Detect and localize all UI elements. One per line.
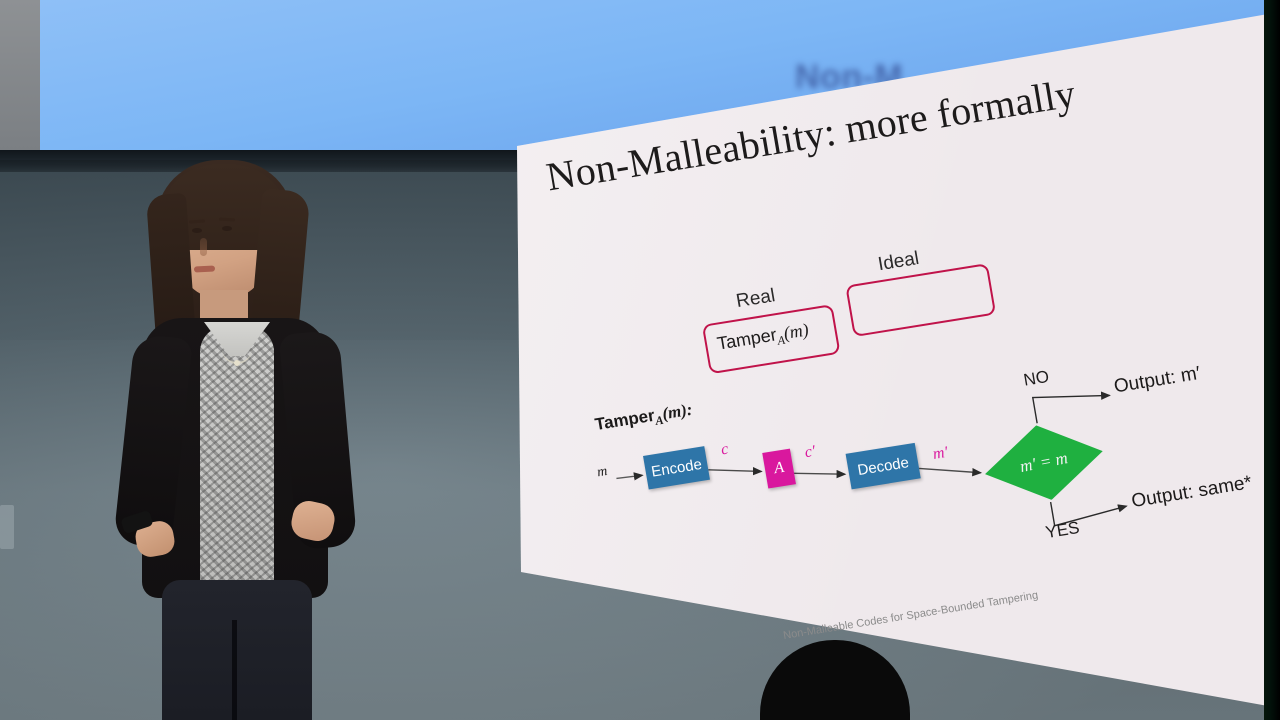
slide-content: Non-Malleability: more formally Real Ide… (517, 26, 1280, 698)
procedure-name: Tamper (593, 406, 656, 434)
column-label-ideal: Ideal (876, 248, 920, 276)
procedure-label: TamperA(m): (593, 400, 694, 439)
flow-edge-label-c-prime: c′ (803, 443, 817, 462)
presenter (96, 150, 376, 720)
presenter-trousers (162, 580, 312, 720)
presenter-leg-separation (232, 620, 237, 720)
presenter-mouth (194, 265, 215, 272)
flow-node-adversary: A (762, 449, 796, 489)
presenter-nose (200, 238, 207, 256)
presenter-necklace-pendant (234, 360, 240, 366)
real-box-arg: (m) (782, 319, 810, 343)
branch-label-no: NO (1022, 367, 1051, 391)
presenter-eye-right (222, 226, 232, 231)
presenter-eye-left (192, 228, 202, 233)
video-frame: Non-M Non-Malleability: more form (0, 0, 1280, 720)
ideal-box (845, 263, 996, 337)
wall-outlet (0, 505, 14, 549)
left-wall-panel (0, 0, 40, 150)
real-box: TamperA(m) (702, 304, 841, 374)
procedure-arg: (m): (661, 400, 694, 424)
column-label-real: Real (735, 285, 777, 313)
real-box-fn: Tamper (716, 324, 779, 353)
presenter-blouse (200, 326, 274, 598)
real-box-text: TamperA(m) (716, 319, 811, 358)
flow-decision-text: m′ = m (1018, 448, 1069, 477)
flow-edge-label-m-prime: m′ (932, 444, 950, 464)
